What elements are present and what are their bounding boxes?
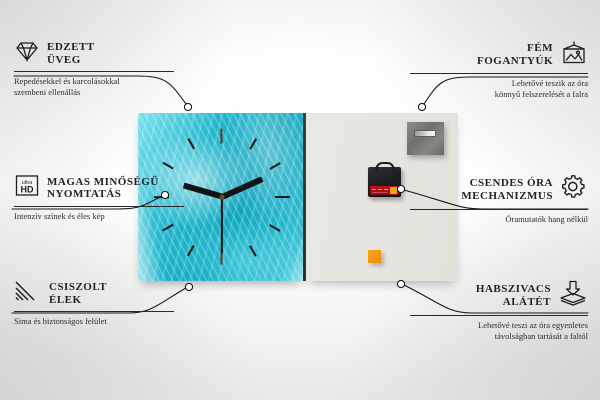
infographic-canvas: EDZETT ÜVEG Repedésekkel és karcolásokka… [0, 0, 600, 400]
callout-description: Repedésekkel és karcolásokkal szembeni e… [14, 76, 174, 97]
callout-rule [410, 315, 588, 316]
callout-rule [410, 73, 588, 74]
callout-description: Lehetővé teszi az óra egyenletes távolsá… [410, 320, 588, 341]
second-hand [221, 197, 223, 253]
battery-plus-marker [390, 187, 397, 194]
callout-foam-pad: HABSZIVACS ALÁTÉT Lehetővé teszi az óra … [410, 280, 588, 341]
polished-edges-icon [14, 280, 42, 307]
hanger-slot [414, 130, 436, 137]
callout-description: Sima és biztonságos felület [14, 316, 174, 327]
metal-hanger [407, 122, 444, 155]
callout-rule [14, 206, 184, 207]
clock-center-cap [219, 195, 224, 200]
foam-pad-icon [558, 280, 588, 311]
diamond-icon [14, 40, 40, 67]
battery-label [370, 186, 399, 195]
callout-high-quality-print: ultra HD MAGAS MINŐSÉGŰ NYOMTATÁS Intenz… [14, 174, 184, 222]
callout-description: Lehetővé teszik az óra könnyű felszerelé… [410, 78, 588, 99]
wall-hanger-icon [560, 40, 588, 69]
callout-title: HABSZIVACS ALÁTÉT [476, 283, 551, 308]
clock-tick [220, 129, 222, 144]
callout-rule [410, 209, 588, 210]
quartz-mechanism [368, 167, 401, 197]
clock-tick [275, 196, 290, 198]
callout-title: FÉM FOGANTYÚK [477, 42, 553, 67]
callout-description: Intenzív színek és éles kép [14, 211, 184, 222]
svg-text:HD: HD [21, 185, 34, 195]
callout-title: CSENDES ÓRA MECHANIZMUS [461, 177, 553, 202]
callout-title: MAGAS MINŐSÉGŰ NYOMTATÁS [47, 176, 159, 201]
ultra-hd-icon: ultra HD [14, 174, 40, 202]
callout-silent-mechanism: CSENDES ÓRA MECHANIZMUS Óramutatók hang … [410, 174, 588, 225]
callout-tempered-glass: EDZETT ÜVEG Repedésekkel és karcolásokka… [14, 40, 174, 97]
gear-icon [560, 174, 588, 205]
callout-metal-handles: FÉM FOGANTYÚK Lehetővé teszik az óra kön… [410, 40, 588, 99]
callout-rule [14, 311, 174, 312]
mechanism-loop [375, 162, 394, 172]
foam-pad [368, 250, 381, 263]
callout-title: EDZETT ÜVEG [47, 41, 95, 66]
callout-polished-edges: CSISZOLT ÉLEK Sima és biztonságos felüle… [14, 280, 174, 327]
callout-title: CSISZOLT ÉLEK [49, 281, 107, 306]
callout-description: Óramutatók hang nélkül [410, 214, 588, 225]
callout-rule [14, 71, 174, 72]
